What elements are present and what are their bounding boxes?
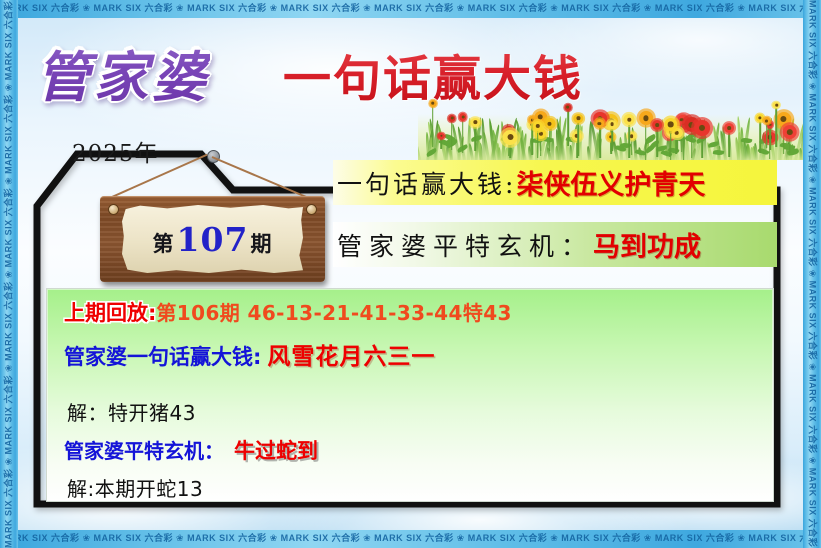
panel-row-explain-2: 解:本期开蛇13 — [67, 473, 203, 502]
border-pattern-text: MARK SIX 六合彩 ❀ MARK SIX 六合彩 ❀ MARK SIX 六… — [0, 533, 821, 543]
panel-row-riddle: 管家婆平特玄机：牛过蛇到 — [64, 435, 318, 465]
parchment-label: 第107期 — [122, 205, 303, 273]
headline-band-2: 管家婆平特玄机： 马到功成 — [333, 222, 777, 267]
band-1-label: 一句话赢大钱: — [337, 165, 516, 201]
rope-right — [212, 156, 316, 202]
screw-icon-right — [306, 204, 317, 215]
band-2-label: 管家婆平特玄机： — [337, 227, 593, 263]
band-2-answer: 马到功成 — [593, 225, 701, 264]
issue-prefix: 第 — [153, 231, 175, 256]
rope-left — [103, 154, 208, 202]
issue-number: 107 — [175, 220, 251, 259]
poster-root: MARK SIX 六合彩 ❀ MARK SIX 六合彩 ❀ MARK SIX 六… — [0, 0, 821, 548]
border-top: MARK SIX 六合彩 ❀ MARK SIX 六合彩 ❀ MARK SIX 六… — [0, 0, 821, 18]
panel-row-explain-1: 解：特开猪43 — [67, 397, 196, 426]
issue-number-text: 第107期 — [153, 220, 273, 259]
content-panel: 上期回放:第106期 46-13-21-41-33-44特43 管家婆一句话赢大… — [46, 288, 774, 502]
border-bottom: MARK SIX 六合彩 ❀ MARK SIX 六合彩 ❀ MARK SIX 六… — [0, 530, 821, 548]
wooden-board: 第107期 — [100, 196, 325, 282]
border-right: MARK SIX 六合彩 ❀ MARK SIX 六合彩 ❀ MARK SIX 六… — [803, 0, 821, 548]
band-1-answer: 柒侠伍义护青天 — [516, 163, 705, 202]
hanging-plaque: 第107期 — [95, 150, 330, 295]
phrase-value: 风雪花月六三一 — [261, 344, 435, 370]
headline-band-1: 一句话赢大钱: 柒侠伍义护青天 — [333, 160, 777, 205]
phrase-label: 管家婆一句话赢大钱: — [64, 345, 261, 369]
brand-title: 管家婆 — [36, 33, 210, 112]
replay-label: 上期回放: — [64, 301, 156, 325]
riddle-value: 牛过蛇到 — [224, 435, 318, 465]
screw-icon-left — [108, 204, 119, 215]
border-pattern-text: MARK SIX 六合彩 ❀ MARK SIX 六合彩 ❀ MARK SIX 六… — [804, 0, 821, 548]
border-pattern-text: MARK SIX 六合彩 ❀ MARK SIX 六合彩 ❀ MARK SIX 六… — [1, 0, 18, 548]
panel-row-phrase: 管家婆一句话赢大钱:风雪花月六三一 — [64, 337, 435, 371]
panel-row-replay: 上期回放:第106期 46-13-21-41-33-44特43 — [64, 297, 512, 327]
replay-value: 第106期 46-13-21-41-33-44特43 — [156, 301, 511, 325]
border-pattern-text: MARK SIX 六合彩 ❀ MARK SIX 六合彩 ❀ MARK SIX 六… — [0, 3, 821, 13]
riddle-label: 管家婆平特玄机： — [64, 439, 224, 463]
border-left: MARK SIX 六合彩 ❀ MARK SIX 六合彩 ❀ MARK SIX 六… — [0, 0, 18, 548]
issue-suffix: 期 — [250, 231, 272, 256]
